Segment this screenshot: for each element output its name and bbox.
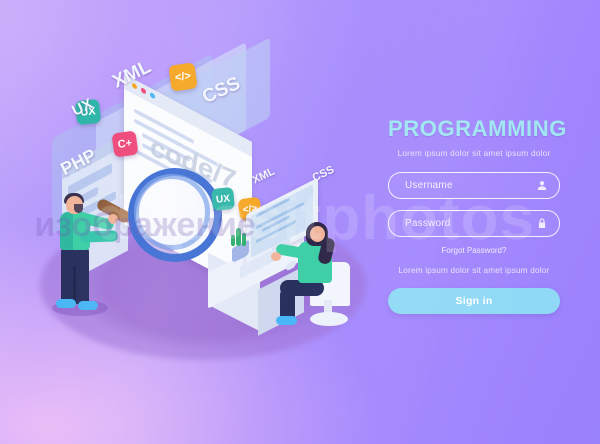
lock-icon [535,217,548,230]
login-panel: PROGRAMMING Lorem ipsum dolor sit amet i… [388,118,560,314]
code-chip: </> [168,62,197,91]
magnifier-inner-ring [134,174,210,250]
password-placeholder: Password [389,218,451,229]
password-field[interactable]: Password [388,210,560,237]
tag-xml-2: XML [251,166,277,187]
sign-in-button[interactable]: Sign in [388,288,560,314]
page-title: PROGRAMMING [388,118,560,140]
ux-chip-2: UX [211,187,235,211]
page-subtitle: Lorem ipsum dolor sit amet ipsum dolor [388,149,560,158]
username-placeholder: Username [389,180,453,191]
illustration-canvas: code/7 UX </> C+ UX </> </> UX XML CSS P… [0,0,600,444]
username-field[interactable]: Username [388,172,560,199]
programming-illustration: code/7 UX </> C+ UX </> </> UX XML CSS P… [0,0,400,400]
cpp-chip: C+ [111,130,138,157]
legal-text: Lorem ipsum dolor sit amet ipsum dolor [388,266,560,275]
user-icon [535,179,548,192]
forgot-password-link[interactable]: Forgot Password? [388,246,560,255]
